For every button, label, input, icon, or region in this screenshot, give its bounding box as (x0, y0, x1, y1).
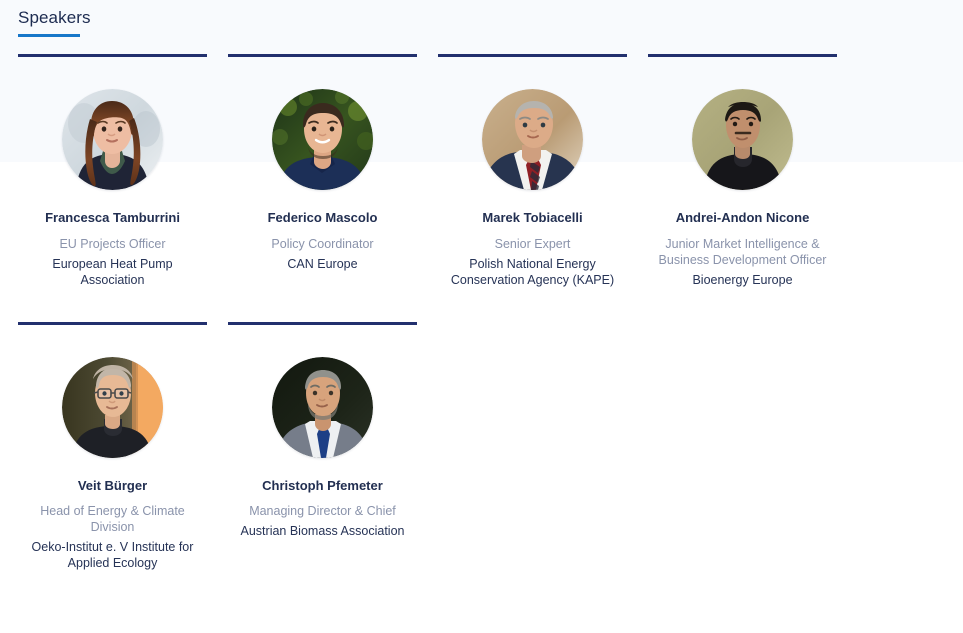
speaker-organization: CAN Europe (230, 256, 415, 272)
speaker-organization: Polish National Energy Conservation Agen… (440, 256, 625, 288)
avatar (62, 357, 163, 458)
speaker-name: Veit Bürger (20, 477, 205, 496)
speaker-name: Andrei-Andon Nicone (650, 209, 835, 228)
avatar (272, 89, 373, 190)
page-title: Speakers (18, 7, 91, 29)
speaker-role: Policy Coordinator (230, 236, 415, 252)
speaker-role: Managing Director & Chief (230, 503, 415, 519)
card-top-rule (648, 54, 837, 57)
title-underline (18, 34, 80, 37)
speaker-card[interactable]: Francesca Tamburrini EU Projects Officer… (18, 54, 207, 288)
card-top-rule (228, 54, 417, 57)
card-top-rule (18, 322, 207, 325)
speaker-card[interactable]: Marek Tobiacelli Senior Expert Polish Na… (438, 54, 627, 288)
speaker-card[interactable]: Veit Bürger Head of Energy & Climate Div… (18, 322, 207, 572)
speaker-name: Federico Mascolo (230, 209, 415, 228)
card-top-rule (228, 322, 417, 325)
card-top-rule (18, 54, 207, 57)
speaker-card[interactable]: Federico Mascolo Policy Coordinator CAN … (228, 54, 417, 288)
speaker-organization: Austrian Biomass Association (230, 523, 415, 539)
speaker-organization: Bioenergy Europe (650, 272, 835, 288)
speaker-role: Junior Market Intelligence & Business De… (650, 236, 835, 268)
speaker-organization: Oeko-Institut e. V Institute for Applied… (20, 539, 205, 571)
speakers-grid: Francesca Tamburrini EU Projects Officer… (18, 54, 858, 571)
section-header: Speakers (18, 7, 91, 37)
speaker-name: Christoph Pfemeter (230, 477, 415, 496)
avatar (62, 89, 163, 190)
avatar (692, 89, 793, 190)
speaker-role: Senior Expert (440, 236, 625, 252)
speaker-role: Head of Energy & Climate Division (20, 503, 205, 535)
speaker-card[interactable]: Andrei-Andon Nicone Junior Market Intell… (648, 54, 837, 288)
speakers-page: Speakers (0, 0, 963, 633)
speaker-organization: European Heat Pump Association (20, 256, 205, 288)
avatar (482, 89, 583, 190)
card-top-rule (438, 54, 627, 57)
speaker-name: Marek Tobiacelli (440, 209, 625, 228)
speaker-card[interactable]: Christoph Pfemeter Managing Director & C… (228, 322, 417, 572)
row-separator (18, 288, 858, 322)
speaker-role: EU Projects Officer (20, 236, 205, 252)
speaker-name: Francesca Tamburrini (20, 209, 205, 228)
avatar (272, 357, 373, 458)
